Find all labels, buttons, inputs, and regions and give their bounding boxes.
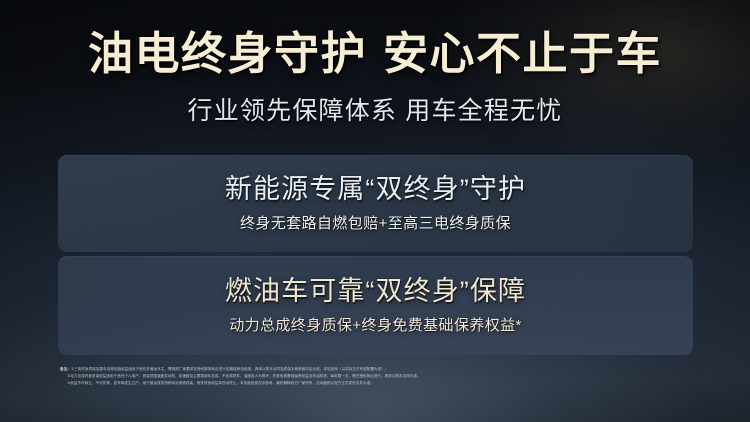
banner-content: 油电终身守护安心不止于车 行业领先保障体系 用车全程无忧 新能源专属“双终身”守… xyxy=(0,0,750,422)
benefit-card-fuel-vehicle-title: 燃油车可靠“双终身”保障 xyxy=(225,276,526,307)
disclaimer-label: 备注： xyxy=(60,367,71,371)
disclaimer-line-1: 备注：①三电终身质保及整车自燃包赔权益适用于首任非营运车主，需按照厂家要求在授权… xyxy=(60,366,696,373)
benefit-card-fuel-vehicle[interactable]: 燃油车可靠“双终身”保障 动力总成终身质保+终身免费基础保养权益* xyxy=(58,256,693,355)
benefit-card-new-energy[interactable]: 新能源专属“双终身”守护 终身无套路自燃包赔+至高三电终身质保 xyxy=(58,155,693,252)
disclaimer-text-3: ③权益不可转让、不可折现，如车辆发生过户、用于营运或非授权网点维修改装，相关终身… xyxy=(67,381,374,385)
benefit-card-new-energy-subtitle: 终身无套路自燃包赔+至高三电终身质保 xyxy=(240,215,511,233)
benefit-card-fuel-vehicle-inner: 燃油车可靠“双终身”保障 动力总成终身质保+终身免费基础保养权益* xyxy=(58,256,693,355)
hero-heading-block: 油电终身守护安心不止于车 行业领先保障体系 用车全程无忧 xyxy=(0,30,750,127)
benefit-card-list: 新能源专属“双终身”守护 终身无套路自燃包赔+至高三电终身质保 燃油车可靠“双终… xyxy=(58,155,693,355)
promo-banner: 油电终身守护安心不止于车 行业领先保障体系 用车全程无忧 新能源专属“双终身”守… xyxy=(0,0,750,422)
hero-title: 油电终身守护安心不止于车 xyxy=(0,30,750,78)
disclaimer-block: 备注：①三电终身质保及整车自燃包赔权益适用于首任非营运车主，需按照厂家要求在授权… xyxy=(60,366,696,387)
hero-subtitle: 行业领先保障体系 用车全程无忧 xyxy=(0,91,750,127)
benefit-card-new-energy-inner: 新能源专属“双终身”守护 终身无套路自燃包赔+至高三电终身质保 xyxy=(58,155,693,252)
disclaimer-line-2: ②动力总成终身质保权益适用于首任个人用户，质保范围涵盖发动机、变速箱及主要零部件… xyxy=(60,373,696,380)
benefit-card-new-energy-title: 新能源专属“双终身”守护 xyxy=(225,174,526,205)
disclaimer-text-2: ②动力总成终身质保权益适用于首任个人用户，质保范围涵盖发动机、变速箱及主要零部件… xyxy=(67,374,421,378)
disclaimer-line-3: ③权益不可转让、不可折现，如车辆发生过户、用于营运或非授权网点维修改装，相关终身… xyxy=(60,380,696,387)
disclaimer-text-1: ①三电终身质保及整车自燃包赔权益适用于首任非营运车主，需按照厂家要求在授权服务网… xyxy=(71,367,389,371)
benefit-card-fuel-vehicle-subtitle: 动力总成终身质保+终身免费基础保养权益* xyxy=(229,317,522,335)
hero-title-part1: 油电终身守护 xyxy=(88,28,367,79)
hero-title-part2: 安心不止于车 xyxy=(383,28,662,79)
